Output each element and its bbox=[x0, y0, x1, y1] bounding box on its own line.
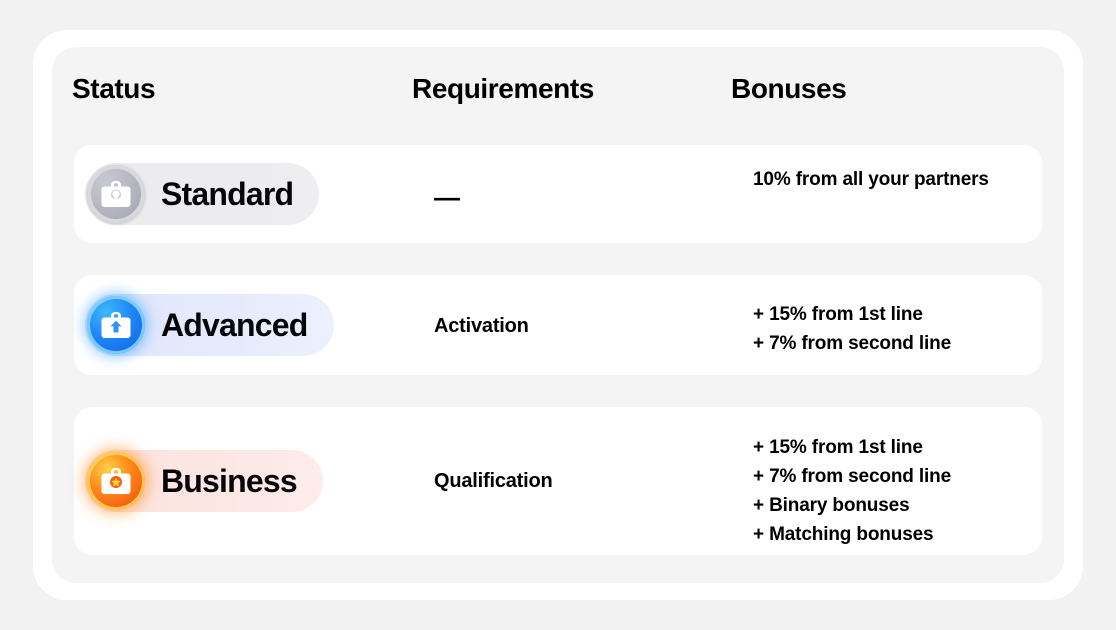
table-header: Status Requirements Bonuses bbox=[52, 47, 1064, 145]
bonuses-list: + 15% from 1st line + 7% from second lin… bbox=[753, 300, 1043, 358]
requirements-value: Qualification bbox=[434, 470, 553, 493]
column-header-status: Status bbox=[72, 73, 155, 105]
bonus-item: + 15% from 1st line bbox=[753, 433, 1043, 462]
bonuses-list: 10% from all your partners bbox=[753, 165, 993, 194]
briefcase-up-arrow-icon bbox=[87, 296, 145, 354]
requirements-value: — bbox=[434, 182, 460, 213]
bonuses-list: + 15% from 1st line + 7% from second lin… bbox=[753, 433, 1043, 549]
bonus-item: + Matching bonuses bbox=[753, 520, 1043, 549]
bonus-item: 10% from all your partners bbox=[753, 165, 993, 194]
status-label: Business bbox=[161, 463, 297, 500]
requirements-value: Activation bbox=[434, 315, 529, 338]
bonus-item: + Binary bonuses bbox=[753, 491, 1043, 520]
bonus-item: + 7% from second line bbox=[753, 329, 1043, 358]
status-pill-business: Business bbox=[85, 450, 323, 512]
briefcase-star-icon bbox=[87, 452, 145, 510]
status-label: Advanced bbox=[161, 307, 308, 344]
status-pill-advanced: Advanced bbox=[85, 294, 334, 356]
bonus-item: + 15% from 1st line bbox=[753, 300, 1043, 329]
table-row[interactable]: Advanced Activation + 15% from 1st line … bbox=[74, 275, 1042, 375]
table-row[interactable]: Business Qualification + 15% from 1st li… bbox=[74, 407, 1042, 555]
table-row[interactable]: Standard — 10% from all your partners bbox=[74, 145, 1042, 243]
status-label: Standard bbox=[161, 176, 293, 213]
bonus-item: + 7% from second line bbox=[753, 462, 1043, 491]
status-pill-standard: Standard bbox=[85, 163, 319, 225]
column-header-requirements: Requirements bbox=[412, 73, 594, 105]
briefcase-lightbulb-icon bbox=[87, 165, 145, 223]
status-levels-panel: Status Requirements Bonuses bbox=[52, 47, 1064, 583]
column-header-bonuses: Bonuses bbox=[731, 73, 846, 105]
status-levels-card: Status Requirements Bonuses bbox=[33, 30, 1083, 600]
